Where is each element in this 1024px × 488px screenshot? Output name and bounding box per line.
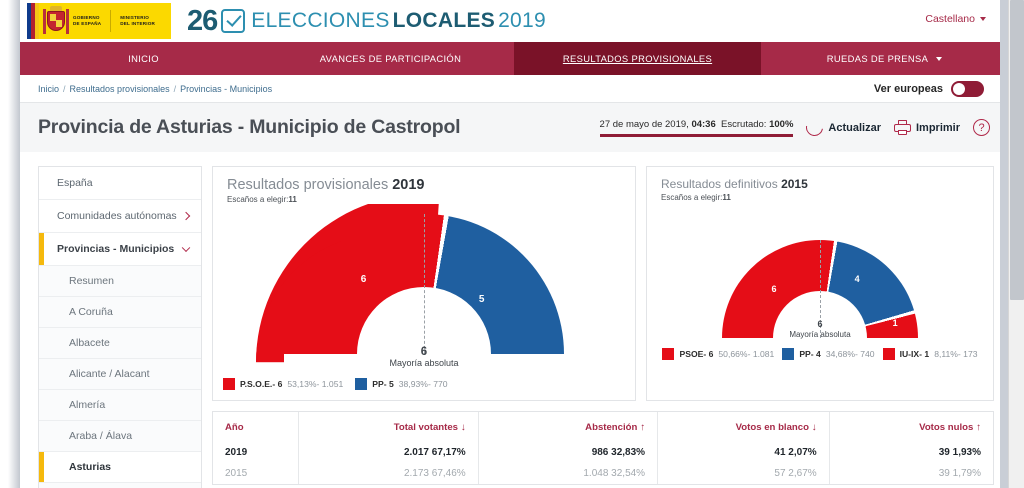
status-date: 27 de mayo de 2019, <box>600 119 689 130</box>
sidebar-item-label: Albacete <box>69 337 110 349</box>
sidebar-item-label: A Coruña <box>69 306 113 318</box>
legend-stats: 53,13%- 1.051 <box>287 379 343 389</box>
legend-item-pp-2015[interactable]: PP- 4 34,68%- 740 <box>782 348 874 360</box>
col-header-total-votantes[interactable]: Total votantes ↓ <box>299 412 478 442</box>
legend-swatch-icon <box>883 348 895 360</box>
scrollbar-thumb[interactable] <box>1010 0 1024 300</box>
brand-number: 26 <box>187 5 217 38</box>
breadcrumb-item-provincias[interactable]: Provincias - Municipios <box>180 84 272 94</box>
page-title: Provincia de Asturias - Municipio de Cas… <box>38 116 460 139</box>
legend-stats: 50,66%- 1.081 <box>718 349 774 359</box>
breadcrumb-item-inicio[interactable]: Inicio <box>38 84 59 94</box>
scrutiny-status: 27 de mayo de 2019, 04:36 Escrutado: 100… <box>600 119 794 137</box>
results-content: Resultados provisionales 2019 Escaños a … <box>212 166 994 488</box>
cell-votos-nulos: 39 1,79% <box>829 463 993 484</box>
col-label: Votos nulos <box>919 422 973 433</box>
page-actions: 27 de mayo de 2019, 04:36 Escrutado: 100… <box>600 119 990 137</box>
sort-desc-icon: ↓ <box>812 422 817 433</box>
refresh-button[interactable]: Actualizar <box>806 119 881 136</box>
sidebar-item-label: Resumen <box>69 275 114 287</box>
participation-table-card: Año Total votantes ↓ Abstención ↑ <box>212 411 994 485</box>
legend-name: PSOE- 6 <box>679 349 713 359</box>
majority-label-2019: 6 Mayoría absoluta <box>213 346 635 368</box>
ver-europeas-toggle[interactable] <box>951 81 984 97</box>
sort-asc-icon: ↑ <box>976 422 981 433</box>
cell-year: 2015 <box>213 463 299 484</box>
breadcrumb-item-resultados[interactable]: Resultados provisionales <box>70 84 170 94</box>
cell-total-votantes: 2.173 67,46% <box>299 463 478 484</box>
escrutado-value: 100% <box>769 119 793 130</box>
legend-name: IU-IX- 1 <box>900 349 930 359</box>
seat-count-pp-2019: 5 <box>479 294 485 305</box>
brand-word-locales: LOCALES <box>393 9 495 33</box>
chart-2019-year: 2019 <box>392 177 424 193</box>
printer-icon <box>894 120 911 135</box>
col-header-votos-nulos[interactable]: Votos nulos ↑ <box>829 412 993 442</box>
majority-value-2019: 6 <box>213 346 635 358</box>
sidebar-item-label: Asturias <box>69 461 111 473</box>
help-label: ? <box>978 122 984 134</box>
chart-2015-header: Resultados definitivos 2015 Escaños a el… <box>647 167 993 202</box>
legend-stats: 8,11%- 173 <box>934 349 977 359</box>
sort-asc-icon: ↑ <box>640 422 645 433</box>
flag-strip-icon <box>27 3 39 39</box>
legend-name: PP- 5 <box>372 379 394 389</box>
legend-swatch-icon <box>223 378 235 390</box>
brand-logo[interactable]: 26 ELECCIONES LOCALES 2019 <box>187 5 546 38</box>
sidebar-item-araba-alava[interactable]: Araba / Álava <box>39 421 201 452</box>
table-head: Año Total votantes ↓ Abstención ↑ <box>213 412 993 442</box>
legend-item-psoe-2019[interactable]: P.S.O.E.- 6 53,13%- 1.051 <box>223 378 343 390</box>
nav-item-inicio[interactable]: INICIO <box>20 42 267 75</box>
site-header: GOBIERNO DE ESPAÑA MINISTERIO DEL INTERI… <box>20 0 1008 42</box>
table-row[interactable]: 2015 2.173 67,46% 1.048 32,54% 57 2,67% … <box>213 463 993 484</box>
chart-2015-gauge: 6 4 1 6 Mayoría absoluta <box>647 202 993 342</box>
majority-line-2019 <box>424 214 425 354</box>
cell-year: 2019 <box>213 442 299 463</box>
chart-2019-gauge: 6 5 6 Mayoría absoluta <box>213 204 635 372</box>
legend-name: P.S.O.E.- 6 <box>240 379 282 389</box>
table-body: 2019 2.017 67,17% 986 32,83% 41 2,07% 39… <box>213 442 993 484</box>
status-time: 04:36 <box>691 119 715 130</box>
escrutado-label: Escrutado: <box>721 119 766 130</box>
sidebar-item-albacete[interactable]: Albacete <box>39 328 201 359</box>
active-marker <box>39 233 44 265</box>
majority-text-2015: Mayoría absoluta <box>789 330 850 339</box>
legend-stats: 34,68%- 740 <box>826 349 875 359</box>
app-root: GOBIERNO DE ESPAÑA MINISTERIO DEL INTERI… <box>0 0 1024 488</box>
language-selector[interactable]: Castellano <box>925 13 986 25</box>
sidebar-item-label: Comunidades autónomas <box>57 210 177 222</box>
brand-word-elecciones: ELECCIONES <box>251 9 389 33</box>
sidebar-item-label: Almería <box>69 399 105 411</box>
sidebar-item-label: España <box>57 177 93 189</box>
sidebar-item-espana[interactable]: España <box>39 167 201 200</box>
col-label: Año <box>225 422 244 433</box>
ver-europeas-label: Ver europeas <box>874 83 943 95</box>
cell-votos-blanco: 57 2,67% <box>658 463 830 484</box>
legend-stats: 38,93%- 770 <box>399 379 448 389</box>
legend-item-pp-2019[interactable]: PP- 5 38,93%- 770 <box>355 378 447 390</box>
page-title-bar: Provincia de Asturias - Municipio de Cas… <box>20 102 1008 152</box>
legend-name: PP- 4 <box>799 349 821 359</box>
chevron-down-icon <box>182 244 190 252</box>
sidebar-item-resumen[interactable]: Resumen <box>39 266 201 297</box>
chevron-right-icon <box>182 212 190 220</box>
chevron-down-icon <box>936 57 942 61</box>
cell-abstencion: 1.048 32,54% <box>478 463 657 484</box>
sidebar-item-almeria[interactable]: Almería <box>39 390 201 421</box>
page-scrollbar[interactable] <box>1008 0 1024 488</box>
sidebar-item-label: Alicante / Alacant <box>69 368 150 380</box>
chart-2019-subtitle: Escaños a elegir:11 <box>227 195 635 204</box>
language-label: Castellano <box>925 13 975 25</box>
sidebar-item-avila[interactable]: Ávila <box>39 483 201 488</box>
active-marker <box>39 452 44 482</box>
seats-label: Escaños a elegir: <box>227 195 288 204</box>
government-logo: GOBIERNO DE ESPAÑA MINISTERIO DEL INTERI… <box>27 3 171 39</box>
table-row[interactable]: 2019 2.017 67,17% 986 32,83% 41 2,07% 39… <box>213 442 993 463</box>
col-label: Total votantes <box>394 422 458 433</box>
cell-total-votantes: 2.017 67,17% <box>299 442 478 463</box>
refresh-label: Actualizar <box>828 122 881 134</box>
brand-word-year: 2019 <box>498 9 546 33</box>
sidebar-item-comunidades-autonomas[interactable]: Comunidades autónomas <box>39 200 201 233</box>
ballot-check-icon <box>221 9 245 33</box>
chart-2015-year: 2015 <box>781 177 808 191</box>
help-icon[interactable]: ? <box>973 119 990 136</box>
chart-2019-title: Resultados provisionales <box>227 177 388 193</box>
sidebar-nav: España Comunidades autónomas Provincias … <box>38 166 202 488</box>
main-content: España Comunidades autónomas Provincias … <box>20 152 1008 488</box>
seat-count-psoe-2019: 6 <box>361 274 367 285</box>
coat-of-arms-icon <box>43 6 69 36</box>
col-header-ano[interactable]: Año <box>213 412 299 442</box>
col-header-abstencion[interactable]: Abstención ↑ <box>478 412 657 442</box>
majority-text-2019: Mayoría absoluta <box>389 358 458 368</box>
chart-card-2019: Resultados provisionales 2019 Escaños a … <box>212 166 636 401</box>
legend-item-iuix-2015[interactable]: IU-IX- 1 8,11%- 173 <box>883 348 978 360</box>
toggle-knob <box>953 83 965 95</box>
sidebar-item-asturias[interactable]: Asturias <box>39 452 201 483</box>
chart-2015-subtitle: Escaños a elegir:11 <box>661 193 993 202</box>
cell-votos-blanco: 41 2,07% <box>658 442 830 463</box>
refresh-icon <box>803 116 827 140</box>
nav-label: RUEDAS DE PRENSA <box>827 53 928 64</box>
majority-label-2015: 6 Mayoría absoluta <box>647 319 993 339</box>
sidebar-item-a-coruna[interactable]: A Coruña <box>39 297 201 328</box>
breadcrumb-separator: / <box>174 84 177 94</box>
cell-abstencion: 986 32,83% <box>478 442 657 463</box>
chart-2015-title: Resultados definitivos <box>661 177 778 191</box>
print-label: Imprimir <box>916 122 960 134</box>
col-label: Abstención <box>585 422 637 433</box>
legend-2019: P.S.O.E.- 6 53,13%- 1.051 PP- 5 38,93%- … <box>213 372 635 400</box>
chart-2019-title-row: Resultados provisionales 2019 <box>227 177 635 193</box>
col-label: Votos en blanco <box>736 422 809 433</box>
seats-label: Escaños a elegir: <box>661 193 722 202</box>
table-header-row: Año Total votantes ↓ Abstención ↑ <box>213 412 993 442</box>
nav-item-ruedas-prensa[interactable]: RUEDAS DE PRENSA <box>761 42 1008 75</box>
chevron-down-icon <box>980 17 986 21</box>
left-gutter <box>0 0 20 488</box>
cell-votos-nulos: 39 1,93% <box>829 442 993 463</box>
ver-europeas-control[interactable]: Ver europeas <box>874 81 984 97</box>
seats-value: 11 <box>288 195 296 204</box>
sidebar-item-label: Provincias - Municipios <box>57 243 174 255</box>
sidebar-item-provincias-municipios[interactable]: Provincias - Municipios <box>39 233 201 266</box>
print-button[interactable]: Imprimir <box>894 120 960 135</box>
col-header-votos-en-blanco[interactable]: Votos en blanco ↓ <box>658 412 830 442</box>
nav-label: AVANCES DE PARTICIPACIÓN <box>320 53 461 64</box>
legend-2015: PSOE- 6 50,66%- 1.081 PP- 4 34,68%- 740 … <box>647 342 993 370</box>
chart-card-2015: Resultados definitivos 2015 Escaños a el… <box>646 166 994 401</box>
seat-count-pp-2015: 4 <box>855 274 860 284</box>
scroll-gap <box>1000 0 1008 488</box>
page-body: GOBIERNO DE ESPAÑA MINISTERIO DEL INTERI… <box>20 0 1008 488</box>
nav-label: RESULTADOS PROVISIONALES <box>563 53 712 64</box>
main-navigation: INICIO AVANCES DE PARTICIPACIÓN RESULTAD… <box>20 42 1008 75</box>
chart-2019-header: Resultados provisionales 2019 Escaños a … <box>213 167 635 204</box>
seats-value: 11 <box>722 193 730 202</box>
charts-row: Resultados provisionales 2019 Escaños a … <box>212 166 994 401</box>
breadcrumb: Inicio / Resultados provisionales / Prov… <box>20 75 1008 102</box>
gov-label-line2: DE ESPAÑA <box>73 21 101 27</box>
nav-item-avances-participacion[interactable]: AVANCES DE PARTICIPACIÓN <box>267 42 514 75</box>
breadcrumb-separator: / <box>63 84 66 94</box>
nav-item-resultados-provisionales[interactable]: RESULTADOS PROVISIONALES <box>514 42 761 75</box>
seat-count-psoe-2015: 6 <box>772 284 777 294</box>
majority-value-2015: 6 <box>647 319 993 329</box>
sidebar-item-label: Araba / Álava <box>69 430 132 442</box>
legend-swatch-icon <box>662 348 674 360</box>
sort-desc-icon: ↓ <box>461 422 466 433</box>
chart-2015-title-row: Resultados definitivos 2015 <box>661 177 993 191</box>
sidebar-item-alicante-alacant[interactable]: Alicante / Alacant <box>39 359 201 390</box>
nav-label: INICIO <box>128 53 159 64</box>
ministry-label-line2: DEL INTERIOR <box>120 21 155 27</box>
legend-swatch-icon <box>355 378 367 390</box>
logo-divider <box>110 10 111 32</box>
legend-swatch-icon <box>782 348 794 360</box>
legend-item-psoe-2015[interactable]: PSOE- 6 50,66%- 1.081 <box>662 348 774 360</box>
participation-table: Año Total votantes ↓ Abstención ↑ <box>213 412 993 484</box>
